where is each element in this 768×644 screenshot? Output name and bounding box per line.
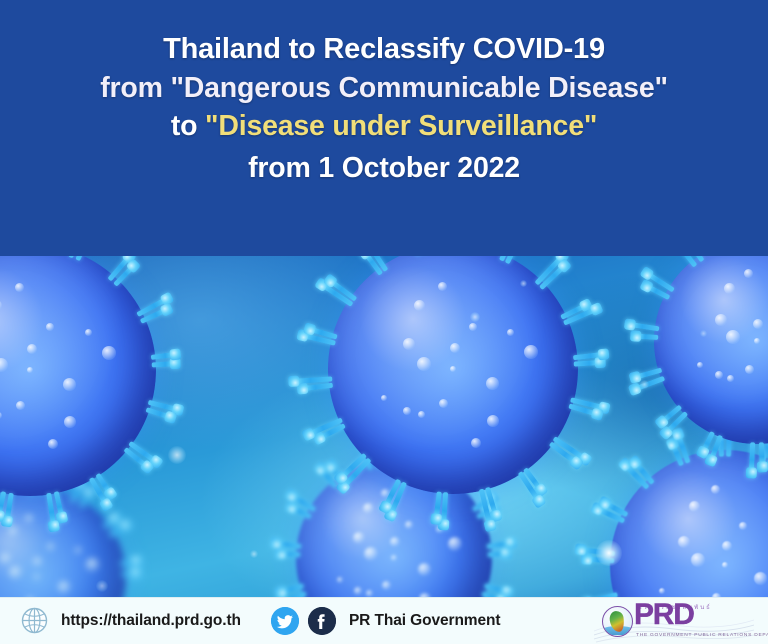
virus-surface-bump — [745, 365, 754, 374]
prd-logo: กรมประชาสัมพันธ์ PRD THE GOVERNMENT PUBL… — [594, 599, 754, 643]
virus-surface-bump — [102, 346, 116, 360]
headline-line-3-prefix: to — [171, 110, 205, 142]
virus-surface-bump — [364, 547, 378, 561]
virus-surface-bump — [724, 283, 735, 294]
virus-surface-bump — [739, 522, 747, 530]
virus-surface-bump — [418, 411, 425, 418]
virus-spike — [441, 492, 448, 526]
virus-particle — [0, 250, 156, 496]
virus-surface-bump — [47, 543, 55, 551]
headline-line-3-highlight: "Disease under Surveillance" — [205, 110, 597, 142]
virus-spike — [122, 571, 139, 577]
virus-surface-bump — [678, 536, 690, 548]
virus-spike — [573, 352, 605, 361]
virus-surface-bump — [33, 557, 43, 567]
virus-surface-bump — [15, 283, 24, 292]
virus-surface-bump — [34, 574, 40, 580]
virus-surface-bump — [403, 338, 415, 350]
virus-surface-bump — [754, 572, 767, 585]
virus-surface-bump — [0, 553, 12, 565]
headline-line-2: from "Dangerous Communicable Disease" — [0, 69, 768, 107]
virus-surface-bump — [448, 537, 462, 551]
virus-surface-bump — [48, 439, 58, 449]
virus-surface-bump — [418, 563, 431, 576]
virus-artwork — [0, 250, 768, 598]
virus-surface-bump — [659, 588, 665, 594]
virus-surface-bump — [390, 537, 400, 547]
virus-surface-bump — [487, 415, 499, 427]
headline-line-1: Thailand to Reclassify COVID-19 — [0, 30, 768, 69]
virus-surface-bump — [722, 562, 728, 568]
virus-surface-bump — [75, 547, 82, 554]
virus-surface-bump — [438, 282, 447, 291]
virus-surface-bump — [58, 581, 71, 594]
virus-surface-bump — [354, 587, 362, 595]
virus-spike — [152, 361, 177, 367]
virus-surface-bump — [414, 300, 425, 311]
globe-icon — [21, 607, 48, 634]
virus-surface-bump — [403, 407, 411, 415]
virus-surface-bump — [64, 416, 76, 428]
prd-tagline: THE GOVERNMENT PUBLIC RELATIONS DEPARTME… — [636, 632, 768, 637]
virus-surface-bump — [382, 581, 391, 590]
virus-surface-bump — [0, 412, 2, 419]
virus-spike — [574, 360, 602, 367]
virus-particle-primary — [328, 250, 578, 494]
virus-surface-bump — [46, 323, 54, 331]
virus-spike — [634, 333, 659, 339]
virus-surface-bump — [715, 371, 723, 379]
virus-surface-bump — [0, 300, 2, 311]
virus-surface-bump — [63, 378, 76, 391]
virus-surface-bump — [25, 514, 34, 523]
virus-particle — [610, 450, 768, 598]
virus-surface-bump — [16, 401, 25, 410]
virus-surface-bump — [524, 345, 538, 359]
virus-spike — [279, 551, 300, 557]
virus-surface-bump — [469, 323, 477, 331]
virus-surface-bump — [9, 566, 23, 580]
virus-spike — [749, 442, 755, 474]
virus-surface-bump — [391, 555, 397, 561]
virus-surface-bump — [471, 438, 481, 448]
twitter-icon[interactable] — [271, 607, 299, 635]
virus-surface-bump — [689, 501, 700, 512]
virus-surface-bump — [715, 314, 727, 326]
virus-surface-bump — [450, 366, 456, 372]
virus-surface-bump — [27, 367, 33, 373]
headline-line-3: to "Disease under Surveillance" — [0, 107, 768, 145]
poster: Thailand to Reclassify COVID-19 from "Da… — [0, 0, 768, 644]
virus-spike — [108, 522, 129, 537]
facebook-icon[interactable] — [308, 607, 336, 635]
prd-seal-icon — [602, 606, 633, 637]
virus-surface-bump — [711, 485, 720, 494]
virus-particle — [654, 250, 768, 444]
virus-spike — [759, 442, 765, 468]
virus-surface-bump — [363, 503, 374, 514]
virus-surface-bump — [27, 344, 37, 354]
footer-bar: https://thailand.prd.go.th PR Thai Gover… — [0, 597, 768, 644]
virus-surface-bump — [726, 330, 740, 344]
virus-surface-bump — [337, 577, 343, 583]
social-handle: PR Thai Government — [349, 612, 501, 630]
virus-surface-bump — [486, 377, 499, 390]
virus-surface-bump — [691, 553, 705, 567]
virus-surface-bump — [8, 526, 19, 537]
virus-surface-bump — [439, 399, 448, 408]
virus-surface-bump — [727, 375, 734, 382]
virus-surface-bump — [405, 521, 413, 529]
virus-surface-bump — [753, 319, 763, 329]
virus-surface-bump — [366, 590, 373, 597]
virus-surface-bump — [85, 329, 92, 336]
virus-surface-bump — [417, 357, 431, 371]
virus-surface-bump — [697, 362, 703, 368]
virus-surface-bump — [450, 343, 460, 353]
headline-block: Thailand to Reclassify COVID-19 from "Da… — [0, 30, 768, 187]
virus-spike — [488, 551, 508, 557]
prd-wordmark: PRD — [634, 600, 694, 630]
header-band: Thailand to Reclassify COVID-19 from "Da… — [0, 0, 768, 256]
virus-surface-bump — [381, 395, 387, 401]
virus-surface-bump — [722, 541, 732, 551]
virus-surface-bump — [744, 269, 753, 278]
virus-surface-bump — [507, 329, 514, 336]
website-url[interactable]: https://thailand.prd.go.th — [61, 612, 241, 630]
virus-spike — [300, 383, 333, 392]
virus-surface-bump — [754, 338, 760, 344]
virus-surface-bump — [86, 558, 100, 572]
virus-surface-bump — [353, 532, 365, 544]
virus-surface-bump — [0, 358, 8, 372]
headline-line-4: from 1 October 2022 — [0, 149, 768, 187]
